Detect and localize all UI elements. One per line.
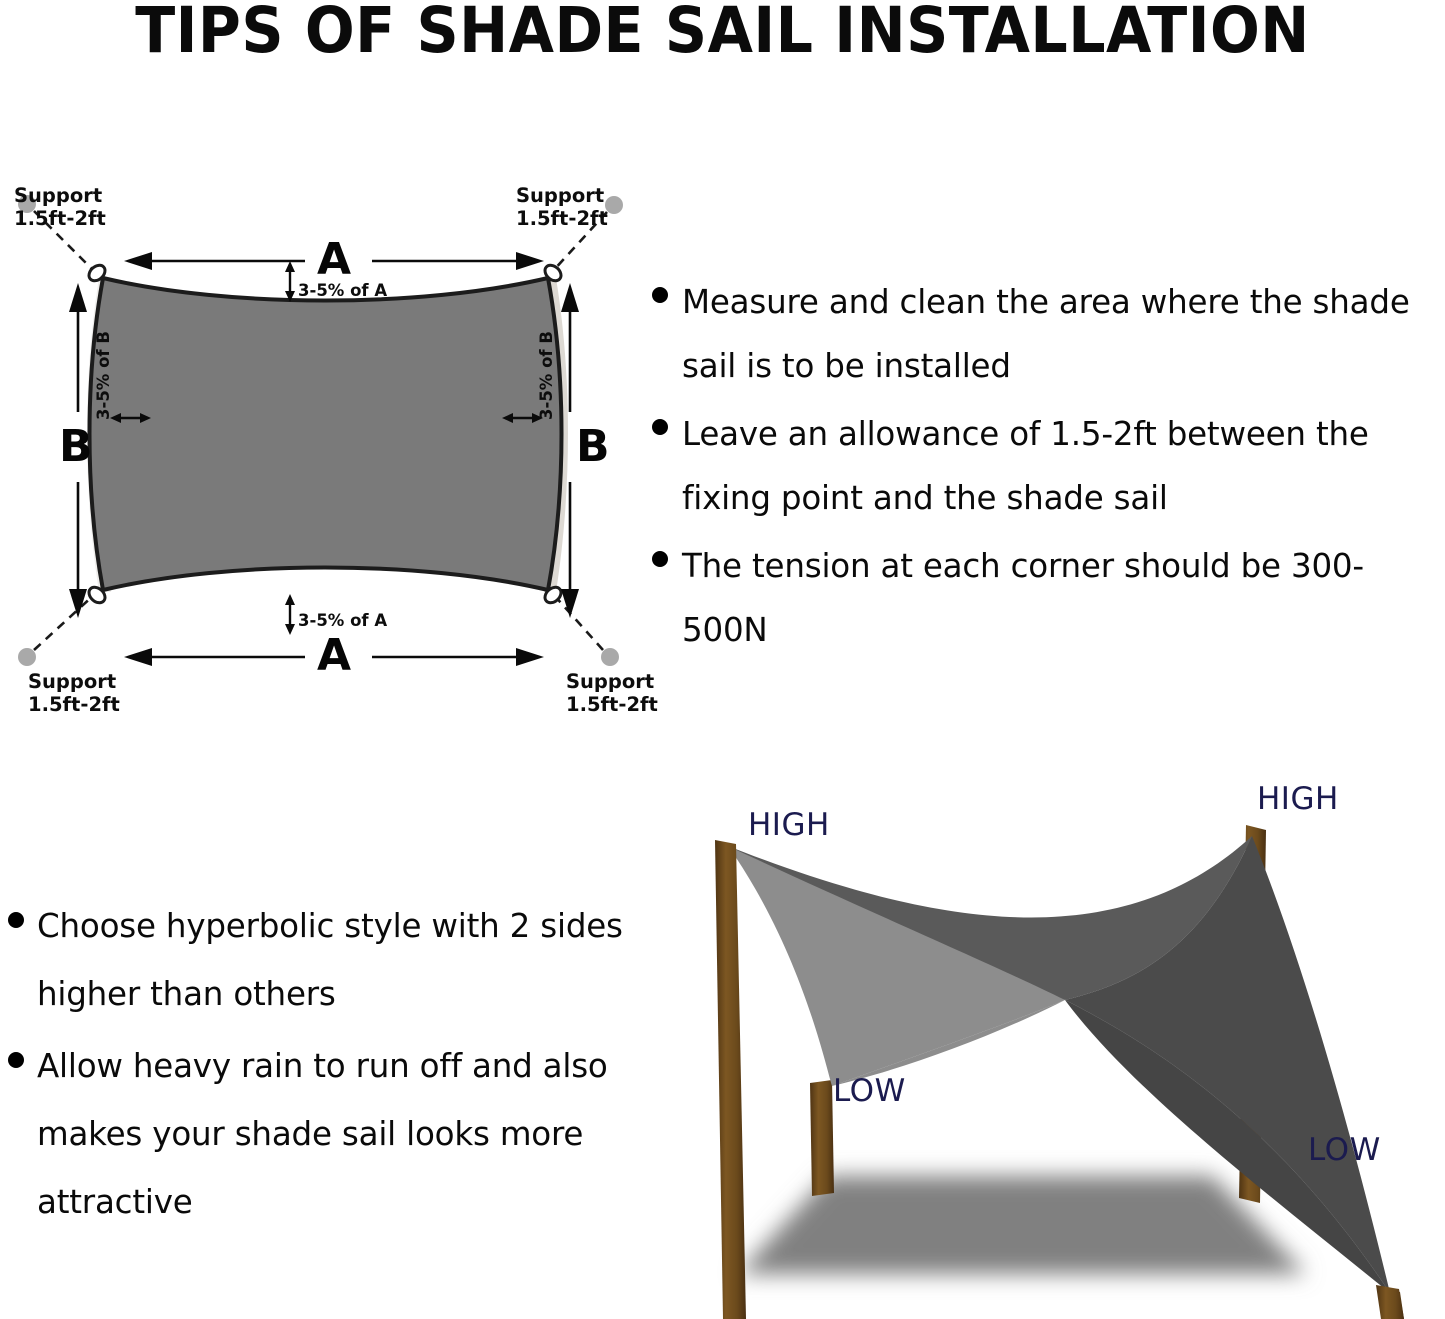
bullet-dot-icon	[8, 912, 24, 928]
bullet-dot-icon	[652, 419, 668, 435]
tie-line-bottom-left	[34, 594, 95, 650]
bullet-dot-icon	[652, 551, 668, 567]
bullet-dot-icon	[8, 1052, 24, 1068]
list-item: Allow heavy rain to run off and also mak…	[8, 1032, 623, 1236]
bullet-dot-icon	[652, 287, 668, 303]
list-item: Choose hyperbolic style with 2 sides hig…	[8, 892, 623, 1028]
support-label-top-right: Support 1.5ft-2ft	[516, 184, 608, 230]
list-item-text: Leave an allowance of 1.5-2ft between th…	[682, 402, 1445, 530]
label-high-right: HIGH	[1257, 784, 1339, 815]
list-item-text: Choose hyperbolic style with 2 sides hig…	[37, 892, 623, 1028]
rect-sail-diagram: Support 1.5ft-2ft Support 1.5ft-2ft Supp…	[0, 160, 680, 730]
label-low-left: LOW	[833, 1076, 906, 1107]
dimension-label-a-top: A	[317, 238, 351, 282]
support-label-bottom-right-line1: Support	[566, 670, 658, 693]
support-label-top-left-line2: 1.5ft-2ft	[14, 207, 106, 230]
list-item-text: Allow heavy rain to run off and also mak…	[37, 1032, 623, 1236]
page-title: TIPS OF SHADE SAIL INSTALLATION	[51, 0, 1395, 67]
support-dot-bottom-right-icon	[601, 648, 619, 666]
curvature-label-top: 3-5% of A	[298, 282, 387, 300]
infographic-page: TIPS OF SHADE SAIL INSTALLATION	[0, 0, 1445, 1319]
curvature-tick-a-top	[285, 261, 295, 302]
hyperbolic-sail-svg	[660, 788, 1445, 1319]
support-label-top-right-line1: Support	[516, 184, 608, 207]
support-label-bottom-left-line2: 1.5ft-2ft	[28, 693, 120, 716]
hyperbolic-style-tips-list: Choose hyperbolic style with 2 sides hig…	[8, 892, 623, 1240]
installation-tips-list: Measure and clean the area where the sha…	[652, 270, 1445, 666]
hyperbolic-sail-illustration: HIGH HIGH LOW LOW	[660, 788, 1445, 1319]
post-low-right-shaft	[1376, 1285, 1404, 1319]
curvature-label-bottom: 3-5% of A	[298, 612, 387, 630]
support-label-top-left-line1: Support	[14, 184, 106, 207]
curvature-label-right: 3-5% of B	[538, 331, 556, 420]
post-low-left	[810, 1080, 834, 1196]
dimension-label-b-right: B	[576, 425, 610, 469]
list-item: Measure and clean the area where the sha…	[652, 270, 1445, 398]
dimension-label-a-bottom: A	[317, 634, 351, 678]
tie-line-bottom-right	[553, 594, 603, 650]
support-label-bottom-left-line1: Support	[28, 670, 120, 693]
post-high-left	[715, 840, 746, 1319]
list-item: Leave an allowance of 1.5-2ft between th…	[652, 402, 1445, 530]
support-label-bottom-left: Support 1.5ft-2ft	[28, 670, 120, 716]
support-label-top-right-line2: 1.5ft-2ft	[516, 207, 608, 230]
support-label-bottom-right-line2: 1.5ft-2ft	[566, 693, 658, 716]
support-dot-bottom-left-icon	[18, 648, 36, 666]
label-low-right: LOW	[1308, 1135, 1381, 1166]
support-label-top-left: Support 1.5ft-2ft	[14, 184, 106, 230]
curvature-tick-a-bottom	[285, 594, 295, 635]
list-item-text: Measure and clean the area where the sha…	[682, 270, 1445, 398]
curvature-label-left: 3-5% of B	[95, 331, 113, 420]
support-label-bottom-right: Support 1.5ft-2ft	[566, 670, 658, 716]
list-item-text: The tension at each corner should be 300…	[682, 534, 1445, 662]
dimension-label-b-left: B	[59, 425, 93, 469]
list-item: The tension at each corner should be 300…	[652, 534, 1445, 662]
label-high-left: HIGH	[748, 810, 830, 841]
shade-sail-body	[90, 278, 562, 590]
